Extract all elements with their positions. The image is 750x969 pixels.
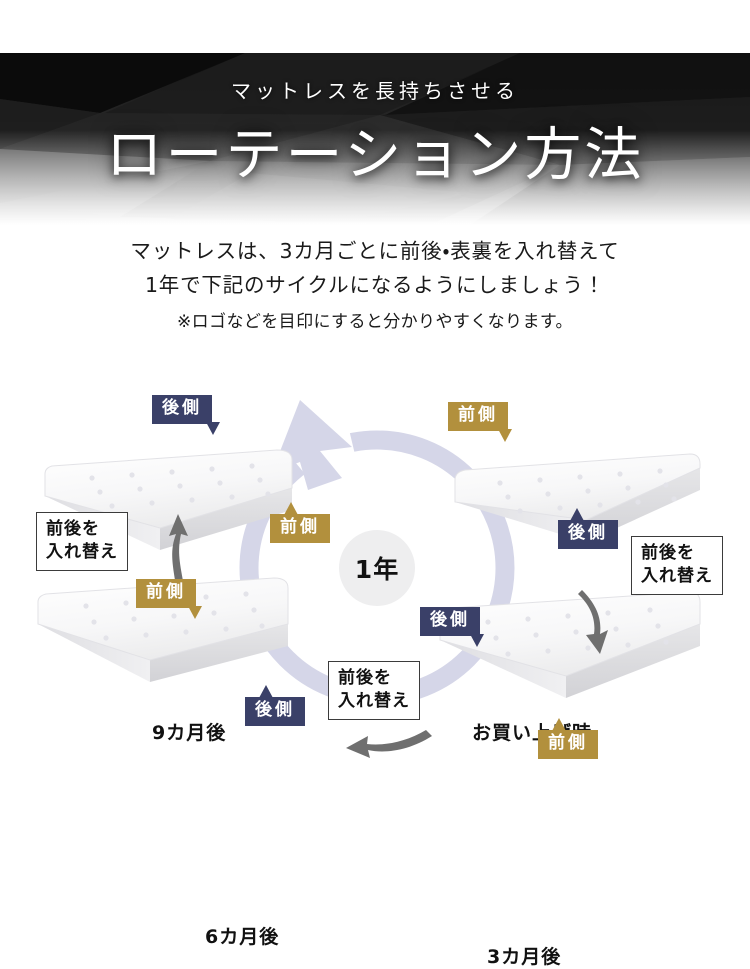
badge-label: 前側 — [146, 582, 186, 602]
step-caption-six-months: 6カ月後 — [205, 922, 279, 949]
badge-tail — [570, 508, 584, 521]
badge-tail — [552, 718, 566, 731]
swap-note-left: 前後を 入れ替え — [36, 512, 128, 571]
center-year-label: 1年 — [355, 550, 399, 586]
swap-note-line-1: 前後を — [641, 542, 713, 565]
infographic-page: マットレスを長持ちさせる ローテーション方法 マットレスは、3カ月ごとに前後・表… — [0, 0, 750, 817]
step-caption-three-months: 3カ月後 — [487, 942, 561, 969]
badge-purchase-near: 前側 — [448, 402, 508, 431]
badge-nine-months-far: 前側 — [270, 514, 330, 543]
badge-tail — [470, 634, 484, 647]
lead-line-1: マットレスは、3カ月ごとに前後・表裏を入れ替えて — [0, 234, 750, 268]
badge-label: 後側 — [255, 700, 295, 720]
lead-line-2: 1年で下記のサイクルになるようにしましょう！ — [0, 268, 750, 302]
lead-note: ※ロゴなどを目印にすると分かりやすくなります。 — [0, 308, 750, 337]
badge-tail — [284, 502, 298, 515]
swap-note-line-1: 前後を — [338, 667, 410, 690]
banner-title: ローテーション方法 — [0, 109, 750, 191]
badge-three-months-far: 前側 — [538, 730, 598, 759]
step-caption-nine-months: 9カ月後 — [152, 718, 226, 745]
banner-subtitle: マットレスを長持ちさせる — [0, 75, 750, 104]
swap-note-line-2: 入れ替え — [338, 690, 410, 713]
badge-tail — [206, 422, 220, 435]
badge-tail — [188, 606, 202, 619]
badge-six-months-far: 後側 — [245, 697, 305, 726]
lead-paragraph: マットレスは、3カ月ごとに前後・表裏を入れ替えて 1年で下記のサイクルになるよう… — [0, 234, 750, 336]
badge-tail — [498, 429, 512, 442]
swap-note-line-2: 入れ替え — [641, 565, 713, 588]
badge-label: 前側 — [280, 517, 320, 537]
center-year-badge: 1年 — [339, 530, 415, 606]
swap-note-bottom: 前後を 入れ替え — [328, 661, 420, 720]
badge-label: 後側 — [430, 610, 470, 630]
swap-note-line-2: 入れ替え — [46, 541, 118, 564]
badge-tail — [259, 685, 273, 698]
swap-arrow-bottom-icon — [346, 730, 432, 758]
badge-label: 前側 — [548, 733, 588, 753]
badge-label: 後側 — [162, 398, 202, 418]
badge-three-months-near: 後側 — [420, 607, 480, 636]
badge-six-months-near: 前側 — [136, 579, 196, 608]
swap-note-line-1: 前後を — [46, 518, 118, 541]
header-banner: マットレスを長持ちさせる ローテーション方法 — [0, 53, 750, 225]
badge-nine-months-near: 後側 — [152, 395, 212, 424]
badge-label: 後側 — [568, 523, 608, 543]
swap-note-right: 前後を 入れ替え — [631, 536, 723, 595]
badge-label: 前側 — [458, 405, 498, 425]
badge-purchase-far: 後側 — [558, 520, 618, 549]
